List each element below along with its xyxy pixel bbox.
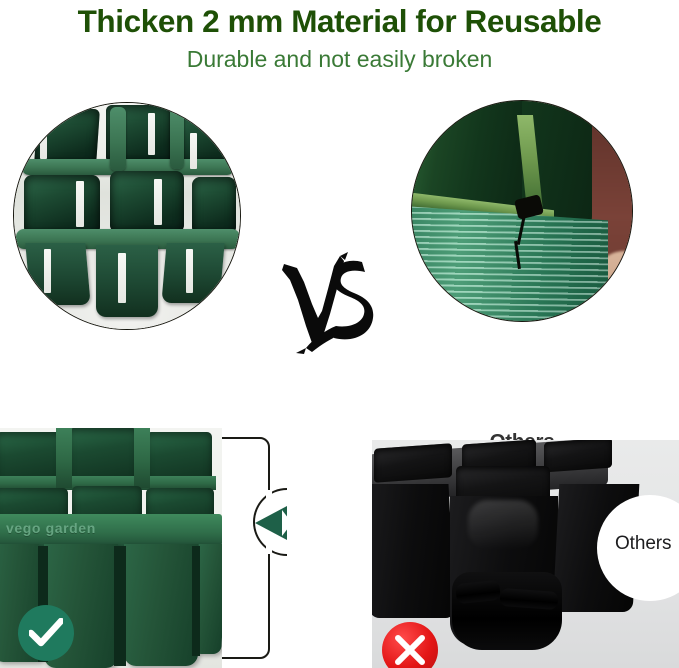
- bottom-comparison-row: vego garden: [0, 420, 679, 668]
- tray-web-rib: [170, 107, 184, 169]
- tray-slot: [118, 253, 126, 303]
- tray-slot: [76, 181, 84, 227]
- versus-icon: [278, 252, 374, 358]
- top-comparison-row: Ours-Whole Set Others 0.8mm: [0, 92, 679, 417]
- pot-ribbed-section: [411, 206, 608, 322]
- tray-cell: [176, 111, 236, 165]
- tray-slot: [148, 113, 155, 155]
- tray-web-rib: [56, 428, 72, 488]
- black-tray-cell: [544, 440, 612, 472]
- others-photo-inner: [412, 101, 632, 321]
- tray-gap: [192, 546, 200, 656]
- tray-cell: [24, 175, 100, 235]
- tray-leg: [96, 245, 158, 317]
- tray-web-rib: [134, 428, 150, 488]
- tray-leg: [161, 243, 224, 303]
- tray-slot: [44, 249, 51, 293]
- left-arrow-icon-notch: [282, 510, 292, 536]
- check-icon: [18, 605, 74, 661]
- tray-pot: [124, 544, 198, 666]
- header: Thicken 2 mm Material for Reusable Durab…: [0, 0, 679, 92]
- tray-cell: [192, 177, 236, 235]
- tray-cell: [68, 428, 138, 482]
- black-tray-cell: [374, 443, 452, 482]
- tray-slot: [40, 119, 47, 159]
- tray-cell: [110, 171, 184, 233]
- page-title: Thicken 2 mm Material for Reusable: [0, 2, 679, 40]
- brand-label: vego garden: [6, 520, 96, 536]
- ours-photo-inner: [14, 103, 240, 329]
- ours-product-photo: [13, 102, 241, 330]
- tray-gap: [114, 546, 126, 666]
- page-subtitle: Durable and not easily broken: [0, 44, 679, 74]
- black-tray-body: [372, 484, 456, 618]
- tray-web-rib: [110, 107, 126, 171]
- tray-slot: [186, 249, 193, 293]
- black-tray-highlight: [468, 500, 538, 550]
- others-bubble-label: Others: [615, 533, 671, 555]
- tray-slot: [154, 179, 162, 225]
- tray-leg: [25, 243, 90, 305]
- others-product-photo: [411, 100, 633, 322]
- tray-slot: [190, 133, 197, 169]
